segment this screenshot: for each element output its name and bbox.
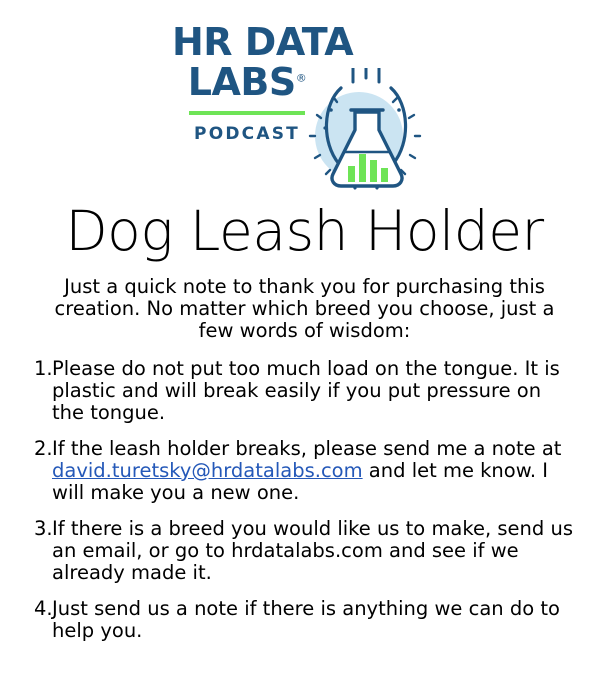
list-item-text-before: Just send us a note if there is anything…	[52, 597, 560, 642]
brand-logo: HR DATA LABS® PODCAST	[0, 0, 609, 200]
list-item-text-before: Please do not put too much load on the t…	[52, 357, 560, 424]
list-item-text-before: If the leash holder breaks, please send …	[52, 437, 561, 460]
list-item-text: If there is a breed you would like us to…	[52, 518, 590, 584]
list-item-text-before: If there is a breed you would like us to…	[52, 517, 573, 584]
intro-paragraph: Just a quick note to thank you for purch…	[35, 276, 575, 342]
list-item: 1. Please do not put too much load on th…	[0, 358, 609, 424]
logo-text-labs: LABS	[188, 62, 296, 102]
logo-wordmark: HR DATA LABS® PODCAST	[172, 22, 322, 144]
page-title: Dog Leash Holder	[0, 200, 609, 262]
list-item-number: 3.	[0, 518, 52, 540]
list-item: 3. If there is a breed you would like us…	[0, 518, 609, 584]
list-item-text: If the leash holder breaks, please send …	[52, 438, 590, 504]
email-link[interactable]: david.turetsky@hrdatalabs.com	[52, 459, 363, 482]
list-item: 4. Just send us a note if there is anyth…	[0, 598, 609, 642]
list-item-text: Please do not put too much load on the t…	[52, 358, 590, 424]
logo-divider	[189, 111, 305, 115]
instructions-list: 1. Please do not put too much load on th…	[0, 358, 609, 642]
list-item-number: 4.	[0, 598, 52, 620]
flask-lightbulb-bar-chart-icon	[303, 68, 439, 194]
list-item-number: 1.	[0, 358, 52, 380]
list-item-number: 2.	[0, 438, 52, 460]
list-item: 2. If the leash holder breaks, please se…	[0, 438, 609, 504]
list-item-text: Just send us a note if there is anything…	[52, 598, 590, 642]
logo-text-podcast: PODCAST	[172, 124, 322, 144]
logo-text-hr-data: HR DATA	[172, 22, 322, 62]
